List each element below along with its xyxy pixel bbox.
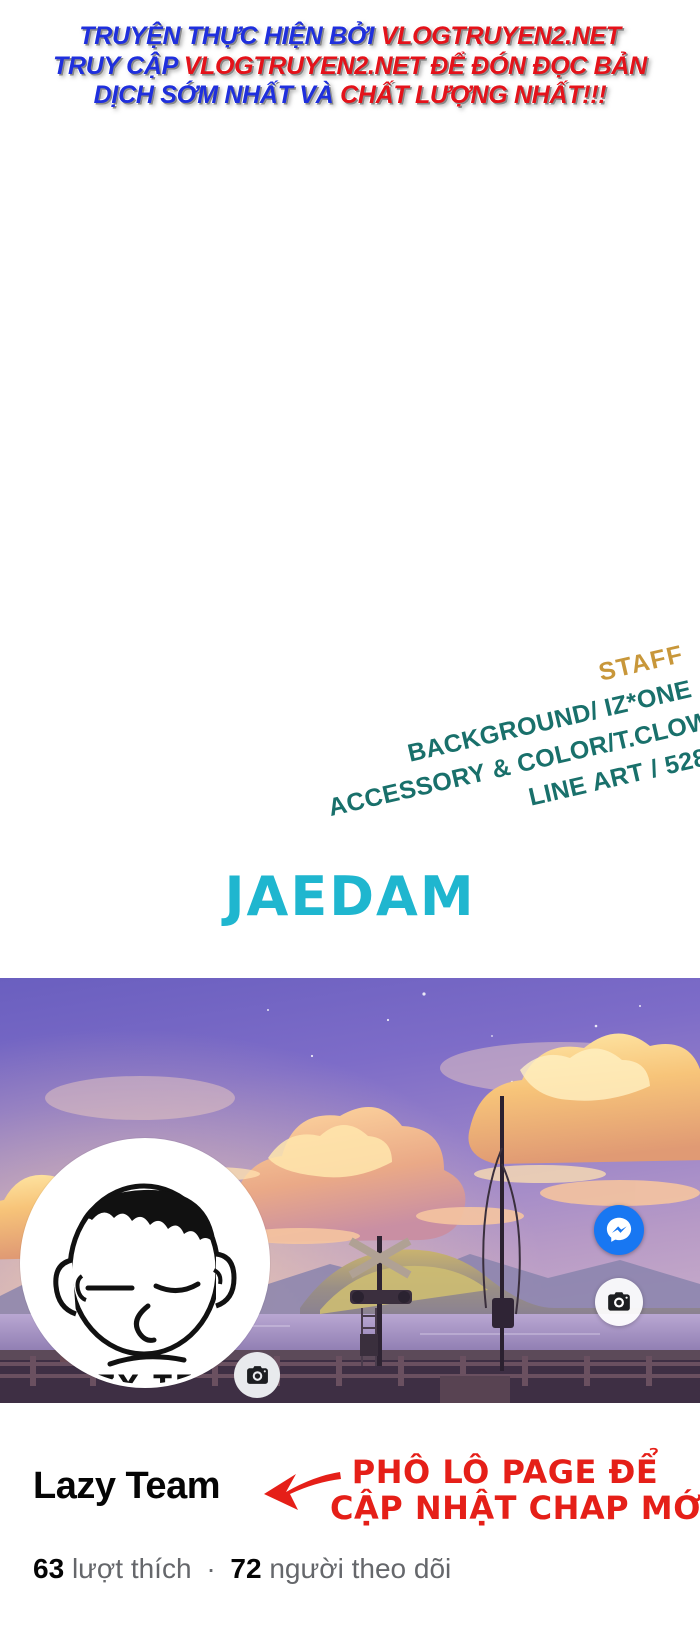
webtoon-credits-page: TRUYỆN THỰC HIỆN BỞI VLOGTRUYEN2.NET TRU… [0,0,700,1641]
watermark-line-1-red: VLOGTRUYEN2.NET [381,22,621,50]
followers-count: 72 [230,1553,261,1584]
annotation-line-1: PHÔ LÔ PAGE ĐỂ [330,1455,680,1491]
avatar-artwork: AZY TEA [24,1142,266,1384]
watermark-line-2-blue: TRUY CẬP [53,52,184,80]
watermark-line-3-blue: DỊCH SỚM NHẤT VÀ [94,81,340,109]
messenger-button[interactable] [594,1205,644,1255]
camera-icon [606,1289,632,1315]
likes-count: 63 [33,1553,64,1584]
watermark-line-1-blue: TRUYỆN THỰC HIỆN BỞI [79,22,381,50]
studio-logo: JAEDAM [0,865,700,928]
page-title: Lazy Team [33,1465,220,1508]
edit-cover-photo-button[interactable] [595,1278,643,1326]
watermark-line-2: TRUY CẬP VLOGTRUYEN2.NET ĐỂ ĐÓN ĐỌC BẢN [0,52,700,82]
annotation-text: PHÔ LÔ PAGE ĐỂ CẬP NHẬT CHAP MỚI [330,1455,680,1527]
camera-icon [245,1363,270,1388]
watermark-line-1: TRUYỆN THỰC HIỆN BỞI VLOGTRUYEN2.NET [0,22,700,52]
annotation-line-2: CẬP NHẬT CHAP MỚI [330,1491,680,1527]
profile-picture[interactable]: AZY TEA [20,1138,270,1388]
watermark-line-3-red: CHẤT LƯỢNG NHẤT!!! [340,81,606,109]
edit-profile-picture-button[interactable] [234,1352,280,1398]
staff-credits: STAFF BACKGROUND/ IZ*ONE ACCESSORY & COL… [310,640,700,860]
watermark-line-3: DỊCH SỚM NHẤT VÀ CHẤT LƯỢNG NHẤT!!! [0,81,700,111]
site-watermark-banner: TRUYỆN THỰC HIỆN BỞI VLOGTRUYEN2.NET TRU… [0,22,700,111]
watermark-line-2-red: VLOGTRUYEN2.NET ĐỂ ĐÓN ĐỌC BẢN [184,52,647,80]
facebook-page-screenshot: AZY TEA Lazy Team 63 lượt thích · 72 ngư… [0,978,700,1641]
messenger-icon [604,1215,634,1245]
likes-label: lượt thích [72,1553,192,1584]
page-stats: 63 lượt thích · 72 người theo dõi [33,1553,451,1585]
stats-separator: · [199,1553,222,1584]
followers-label: người theo dõi [269,1553,451,1584]
